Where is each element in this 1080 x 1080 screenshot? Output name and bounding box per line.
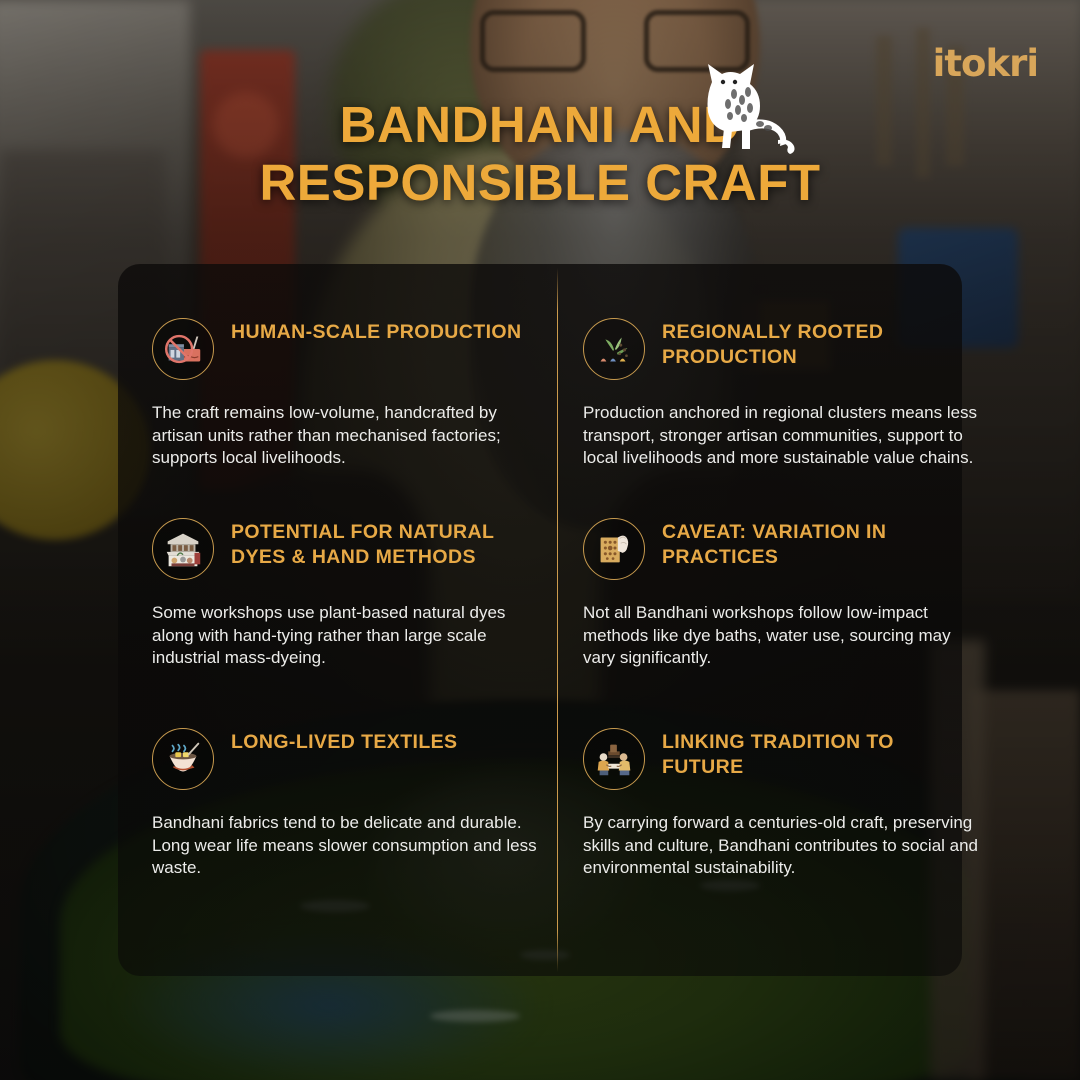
card-body: The craft remains low-volume, handcrafte… bbox=[152, 402, 544, 470]
card-caveat-variation-practices: CAVEAT: VARIATION IN PRACTICES Not all B… bbox=[583, 518, 983, 670]
brand-logo[interactable]: itokri bbox=[933, 42, 1038, 85]
card-header: CAVEAT: VARIATION IN PRACTICES bbox=[583, 518, 983, 580]
card-header: HUMAN-SCALE PRODUCTION bbox=[152, 318, 544, 380]
card-body: Some workshops use plant-based natural d… bbox=[152, 602, 544, 670]
page-title-line-1: BANDHANI AND bbox=[0, 96, 1080, 154]
card-header: POTENTIAL FOR NATURAL DYES & HAND METHOD… bbox=[152, 518, 544, 580]
seedling-sprout-icon bbox=[583, 318, 645, 380]
hand-holding-fabric-swatch-icon bbox=[583, 518, 645, 580]
card-regionally-rooted-production: REGIONALLY ROOTED PRODUCTION Production … bbox=[583, 318, 983, 470]
card-title: LINKING TRADITION TO FUTURE bbox=[662, 730, 972, 780]
card-body: Not all Bandhani workshops follow low-im… bbox=[583, 602, 983, 670]
dye-pot-steam-icon bbox=[152, 728, 214, 790]
card-body: By carrying forward a centuries-old craf… bbox=[583, 812, 983, 880]
two-artisans-working-icon bbox=[583, 728, 645, 790]
white-cat-icon bbox=[690, 52, 800, 157]
card-title: LONG-LIVED TEXTILES bbox=[231, 730, 457, 755]
artisan-workshop-building-icon bbox=[152, 518, 214, 580]
column-divider bbox=[557, 268, 558, 972]
card-human-scale-production: HUMAN-SCALE PRODUCTION The craft remains… bbox=[152, 318, 544, 470]
no-factory-icon bbox=[152, 318, 214, 380]
card-body: Bandhani fabrics tend to be delicate and… bbox=[152, 812, 544, 880]
card-linking-tradition-future: LINKING TRADITION TO FUTURE By carrying … bbox=[583, 728, 983, 880]
page-title-line-2: RESPONSIBLE CRAFT bbox=[0, 154, 1080, 212]
card-title: POTENTIAL FOR NATURAL DYES & HAND METHOD… bbox=[231, 520, 531, 570]
card-header: LONG-LIVED TEXTILES bbox=[152, 728, 544, 790]
page-title: BANDHANI AND RESPONSIBLE CRAFT bbox=[0, 96, 1080, 212]
card-long-lived-textiles: LONG-LIVED TEXTILES Bandhani fabrics ten… bbox=[152, 728, 544, 880]
card-potential-natural-dyes: POTENTIAL FOR NATURAL DYES & HAND METHOD… bbox=[152, 518, 544, 670]
brand-logo-text: itokri bbox=[933, 42, 1038, 85]
card-body: Production anchored in regional clusters… bbox=[583, 402, 983, 470]
card-header: LINKING TRADITION TO FUTURE bbox=[583, 728, 983, 790]
card-title: HUMAN-SCALE PRODUCTION bbox=[231, 320, 521, 345]
card-title: REGIONALLY ROOTED PRODUCTION bbox=[662, 320, 972, 370]
card-header: REGIONALLY ROOTED PRODUCTION bbox=[583, 318, 983, 380]
card-title: CAVEAT: VARIATION IN PRACTICES bbox=[662, 520, 972, 570]
